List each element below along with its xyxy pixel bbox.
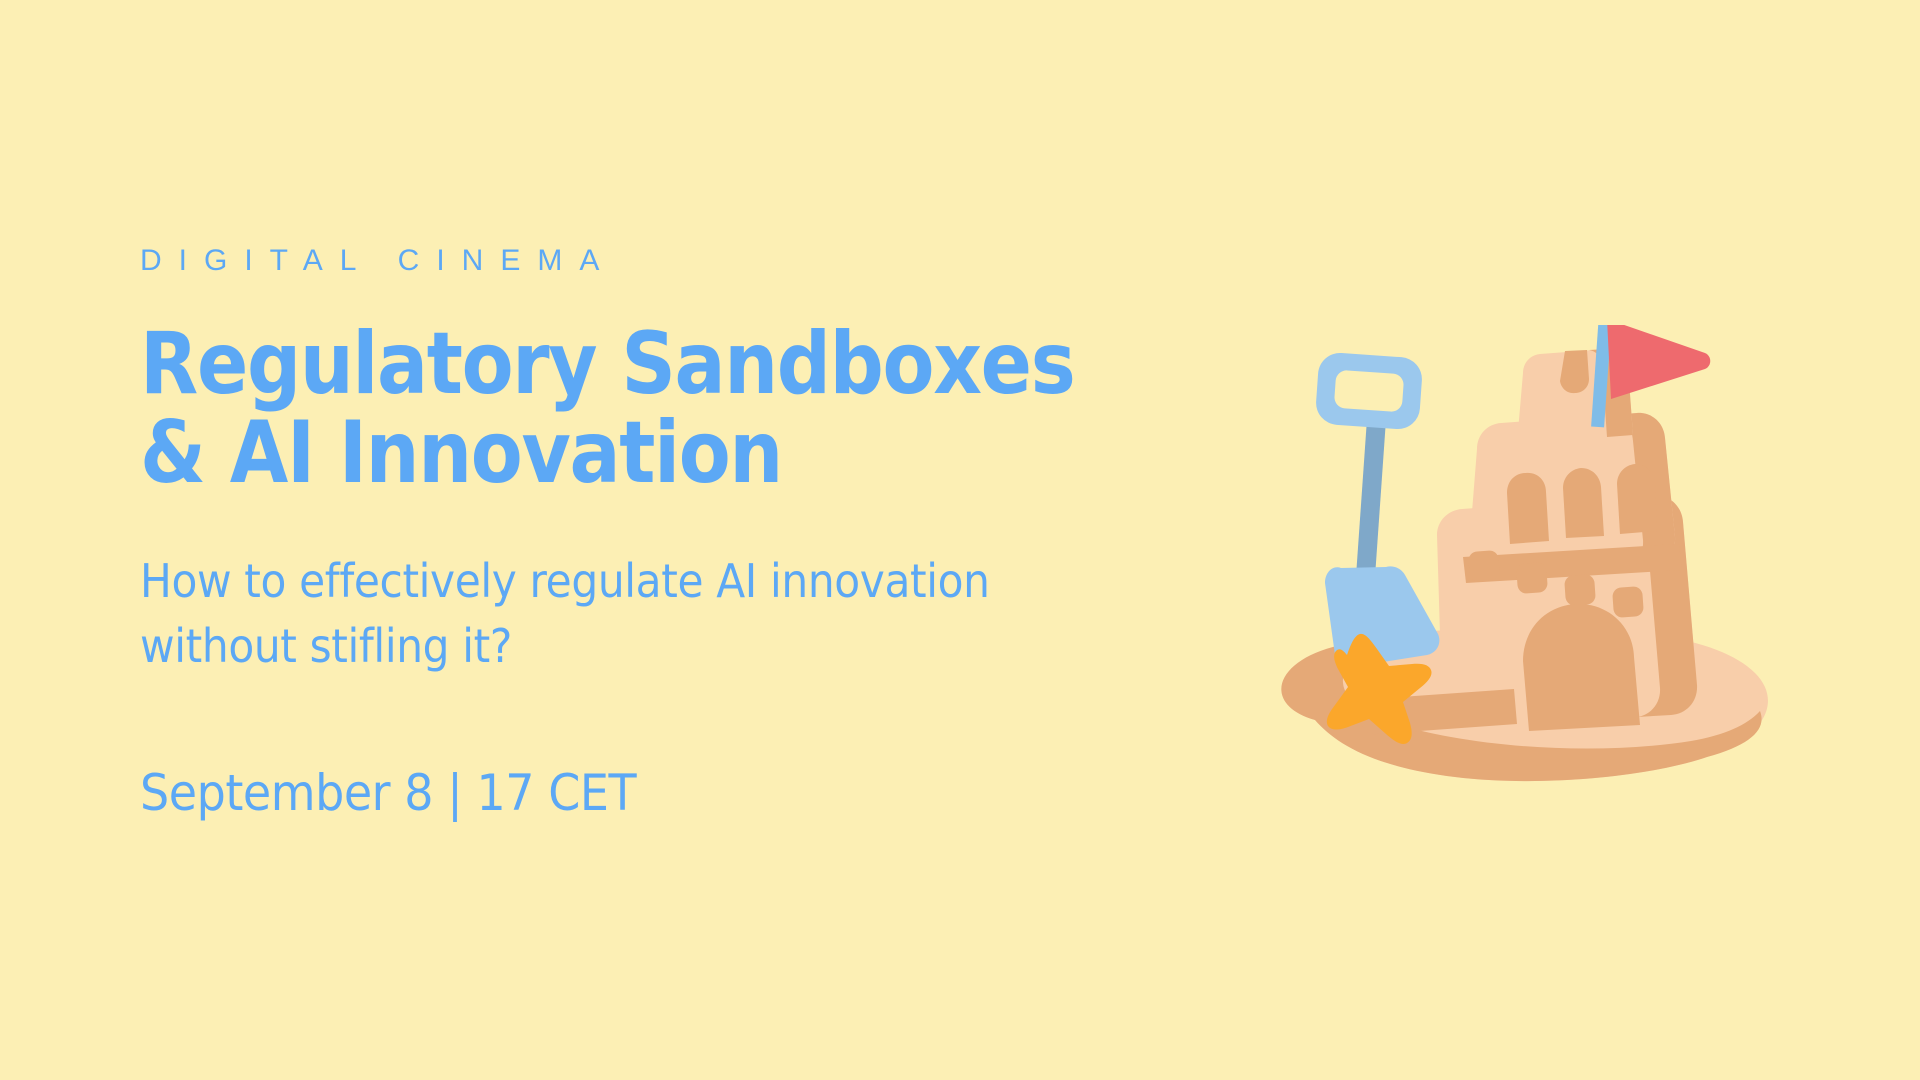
page-title: Regulatory Sandboxes & AI Innovation <box>140 320 1108 497</box>
arched-windows-icon <box>1507 464 1657 544</box>
event-datetime: September 8 | 17 CET <box>140 766 1152 821</box>
text-content-block: DIGITAL CINEMA Regulatory Sandboxes & AI… <box>140 246 1240 821</box>
sandcastle-illustration <box>1255 325 1795 805</box>
headline-line-2: & AI Innovation <box>140 409 1108 498</box>
subtitle-line-1: How to effectively regulate AI innovatio… <box>140 549 1152 614</box>
subtitle-line-2: without stifling it? <box>140 614 1152 679</box>
headline-line-1: Regulatory Sandboxes <box>140 320 1108 409</box>
subtitle: How to effectively regulate AI innovatio… <box>140 549 1152 680</box>
eyebrow-label: DIGITAL CINEMA <box>140 246 1240 276</box>
promo-banner: DIGITAL CINEMA Regulatory Sandboxes & AI… <box>0 0 1920 1080</box>
shovel-icon <box>1315 351 1440 667</box>
